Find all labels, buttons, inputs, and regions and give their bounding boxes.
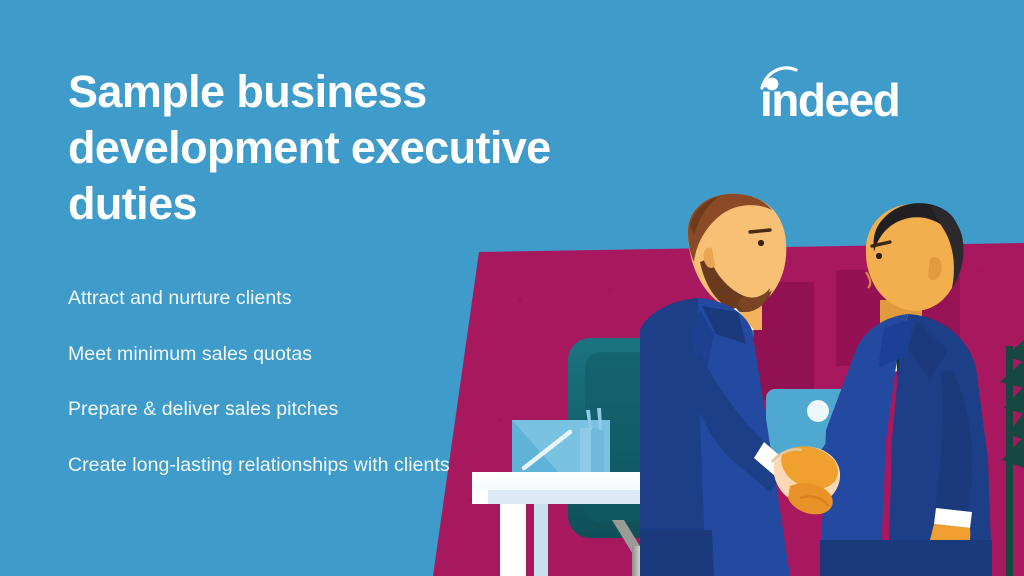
page-title: Sample business development executive du… (68, 64, 668, 231)
duties-list: Attract and nurture clients Meet minimum… (68, 286, 468, 479)
list-item: Meet minimum sales quotas (68, 342, 468, 368)
indeed-wordmark: indeed (760, 74, 899, 124)
slide-root: indeed Sample business development execu… (0, 0, 1024, 576)
list-item: Create long-lasting relationships with c… (68, 453, 468, 479)
list-item: Prepare & deliver sales pitches (68, 397, 468, 423)
laptop-logo (807, 400, 829, 422)
list-item: Attract and nurture clients (68, 286, 468, 312)
desk-leg-shadow (534, 504, 548, 576)
text-column: Sample business development executive du… (68, 64, 668, 231)
indeed-logo[interactable]: indeed (758, 62, 928, 124)
desk-leg-front (500, 504, 526, 576)
